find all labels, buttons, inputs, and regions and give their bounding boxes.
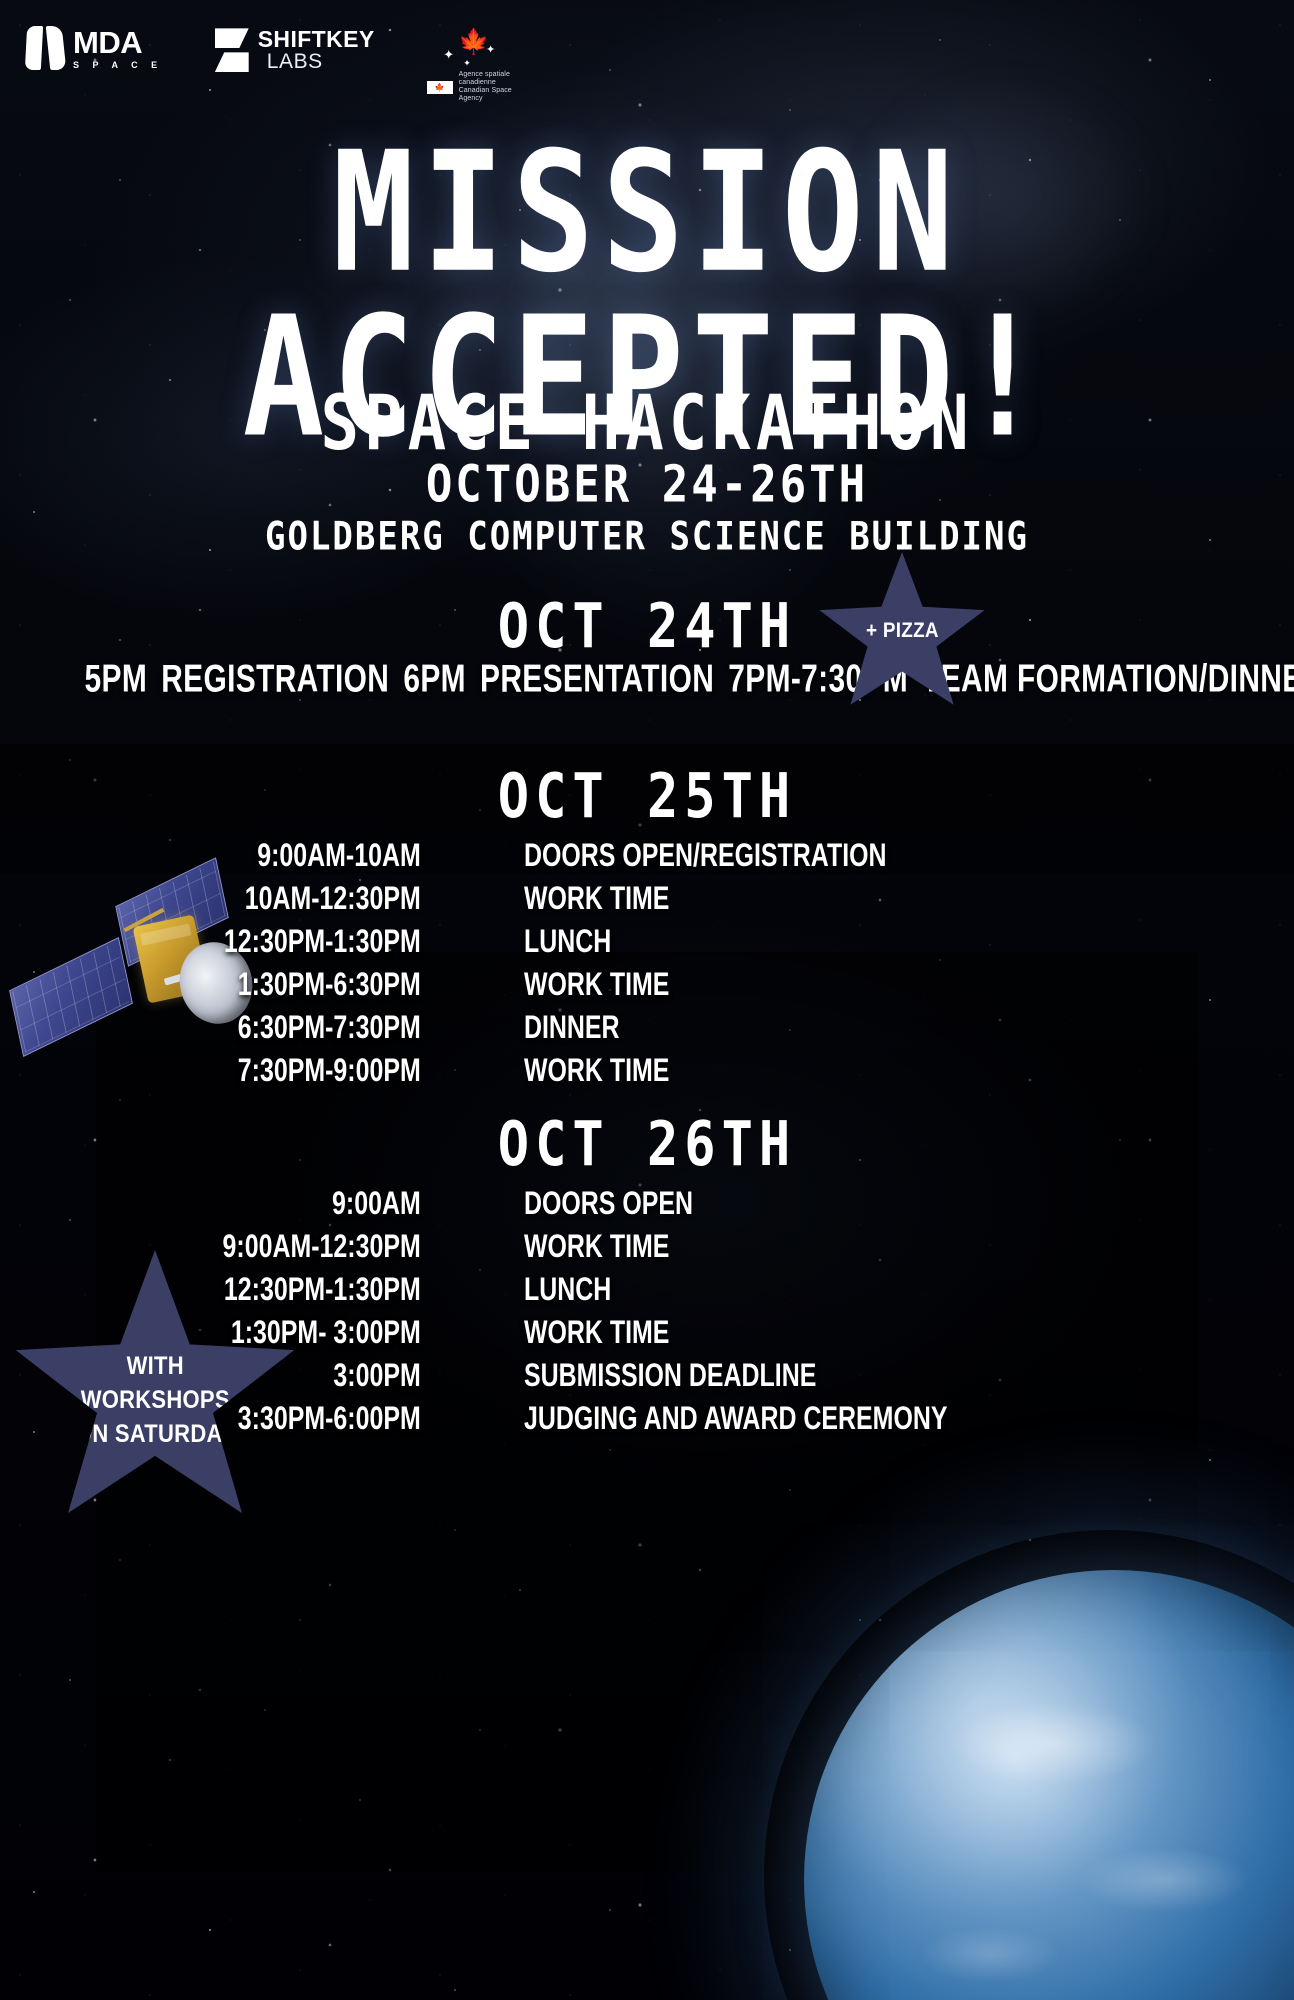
workshops-line-3: ON SATURDAY xyxy=(75,1418,236,1452)
oct24-schedule-line: 5PMREGISTRATION6PMPRESENTATION7PM-7:30PM… xyxy=(0,660,1294,699)
canadian-space-agency-logo: 🍁 ✦ ✦ ✦ 🍁 Agence spatiale canadienne Can… xyxy=(427,30,512,103)
schedule-time: 12:30PM-1:30PM xyxy=(63,924,450,961)
schedule-label: DOORS OPEN/REGISTRATION xyxy=(450,838,1176,875)
oct24-label-1: REGISTRATION xyxy=(161,657,389,700)
oct24-label-2: PRESENTATION xyxy=(480,657,714,700)
day-heading-oct26: OCT 26TH xyxy=(0,1118,1294,1174)
poster-dates: OCTOBER 24-26TH xyxy=(0,462,1294,509)
mda-wordmark: MDA xyxy=(73,27,163,58)
schedule-label: DOORS OPEN xyxy=(450,1186,1176,1223)
schedule-row: 9:00AM-10AM DOORS OPEN/REGISTRATION xyxy=(0,840,1294,873)
schedule-label: WORK TIME xyxy=(450,1315,1176,1352)
schedule-label: SUBMISSION DEADLINE xyxy=(450,1358,1176,1395)
schedule-label: WORK TIME xyxy=(450,881,1176,918)
csa-text-fr-1: Agence spatiale xyxy=(459,71,512,79)
schedule-row: 9:00AM DOORS OPEN xyxy=(0,1188,1294,1221)
schedule-label: WORK TIME xyxy=(450,967,1176,1004)
poster-subtitle: SPACE HACKATHON xyxy=(0,390,1294,459)
poster-canvas: MDA S P A C E SHIFTKEY LABS 🍁 ✦ ✦ ✦ 🍁 xyxy=(0,0,1294,2000)
oct25-schedule-table: 9:00AM-10AM DOORS OPEN/REGISTRATION 10AM… xyxy=(0,840,1294,1098)
shiftkey-wordmark: SHIFTKEY xyxy=(258,28,375,51)
schedule-time: 9:00AM-10AM xyxy=(63,838,450,875)
shiftkey-subtext: LABS xyxy=(267,51,375,72)
schedule-time: 7:30PM-9:00PM xyxy=(63,1053,450,1090)
mda-mark-icon xyxy=(26,26,64,70)
day-heading-oct24: OCT 24TH xyxy=(0,600,1294,656)
schedule-label: LUNCH xyxy=(450,1272,1176,1309)
schedule-label: WORK TIME xyxy=(450,1053,1176,1090)
shiftkey-mark-icon xyxy=(215,28,249,72)
shiftkey-labs-logo: SHIFTKEY LABS xyxy=(215,28,375,73)
schedule-row: 12:30PM-1:30PM LUNCH xyxy=(0,926,1294,959)
poster-venue: GOLDBERG COMPUTER SCIENCE BUILDING xyxy=(0,520,1294,556)
pizza-badge-label: + PIZZA xyxy=(866,619,939,643)
schedule-row: 10AM-12:30PM WORK TIME xyxy=(0,883,1294,916)
schedule-time: 9:00AM-12:30PM xyxy=(63,1229,450,1266)
schedule-time: 6:30PM-7:30PM xyxy=(63,1010,450,1047)
maple-leaf-icon: 🍁 ✦ ✦ ✦ xyxy=(441,30,497,66)
oct24-label-3: TEAM FORMATION/DINNER xyxy=(922,657,1294,700)
day-heading-oct25: OCT 25TH xyxy=(0,770,1294,826)
schedule-time: 12:30PM-1:30PM xyxy=(63,1272,450,1309)
schedule-label: LUNCH xyxy=(450,924,1176,961)
schedule-row: 12:30PM-1:30PM LUNCH xyxy=(0,1274,1294,1307)
schedule-label: JUDGING AND AWARD CEREMONY xyxy=(450,1401,1176,1438)
schedule-label: DINNER xyxy=(450,1010,1176,1047)
mda-space-logo: MDA S P A C E xyxy=(26,26,163,70)
title-line-1: MISSION xyxy=(0,138,1294,291)
csa-text-en-2: Agency xyxy=(459,95,512,103)
schedule-row: 9:00AM-12:30PM WORK TIME xyxy=(0,1231,1294,1264)
oct24-time-2: 6PM xyxy=(403,657,466,700)
schedule-row: 6:30PM-7:30PM DINNER xyxy=(0,1012,1294,1045)
schedule-label: WORK TIME xyxy=(450,1229,1176,1266)
oct24-time-1: 5PM xyxy=(85,657,148,700)
schedule-time: 10AM-12:30PM xyxy=(63,881,450,918)
workshops-line-1: WITH xyxy=(75,1350,236,1384)
csa-text-fr-2: canadienne xyxy=(459,79,512,87)
workshops-badge-label: WITH WORKSHOPS ON SATURDAY xyxy=(75,1350,236,1451)
schedule-row: 1:30PM-6:30PM WORK TIME xyxy=(0,969,1294,1002)
earth-limb-illustration xyxy=(804,1570,1294,2000)
schedule-time: 9:00AM xyxy=(63,1186,450,1223)
sponsor-logos: MDA S P A C E SHIFTKEY LABS 🍁 ✦ ✦ ✦ 🍁 xyxy=(26,26,512,103)
canada-flag-icon: 🍁 xyxy=(427,81,453,94)
schedule-time: 1:30PM-6:30PM xyxy=(63,967,450,1004)
workshops-line-2: WORKSHOPS xyxy=(75,1384,236,1418)
schedule-row: 7:30PM-9:00PM WORK TIME xyxy=(0,1055,1294,1088)
csa-text-en-1: Canadian Space xyxy=(459,87,512,95)
mda-subtext: S P A C E xyxy=(73,61,163,70)
